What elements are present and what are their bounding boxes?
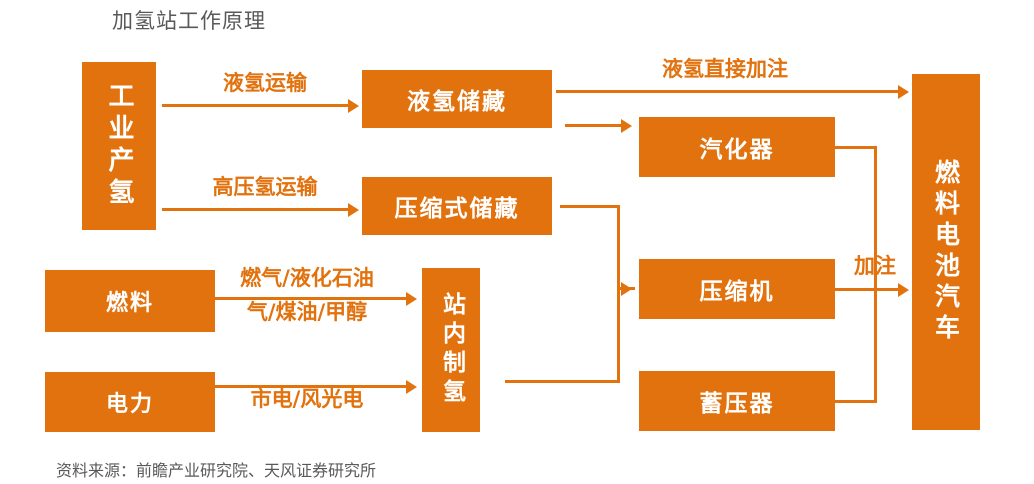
node-accumulator[interactable]: 蓄压器: [639, 371, 835, 431]
edge-label-liquid-hydrogen-transport: 液氢运输: [180, 72, 350, 94]
arrowhead-bus-to-compressor: [621, 282, 632, 296]
connector-right-bus-to-vehicle: [845, 288, 900, 291]
node-fuel-cell-vehicle[interactable]: 燃料电池汽车: [912, 74, 980, 430]
edge-label-fuel-feedstock-line2: 气/煤油/甲醇: [207, 301, 407, 323]
connector-compressed-storage-to-bus: [560, 205, 620, 208]
edge-label-fuel-feedstock-line1: 燃气/液化石油: [207, 267, 407, 289]
connector-liquid-storage-to-vehicle: [556, 90, 900, 93]
connector-left-vertical-bus: [617, 205, 620, 383]
edge-label-power-source: 市电/风光电: [207, 388, 407, 410]
arrowhead-fuel-to-onsite-production: [406, 292, 417, 306]
node-compressed-storage[interactable]: 压缩式储藏: [362, 177, 552, 235]
connector-industrial-to-liquid-storage: [162, 104, 348, 107]
connector-onsite-production-to-bus: [505, 380, 620, 383]
connector-liquid-storage-to-vaporizer: [565, 124, 621, 127]
arrowhead-liquid-storage-to-vaporizer: [621, 119, 632, 133]
edge-label-refueling: 加注: [843, 255, 907, 277]
node-vaporizer[interactable]: 汽化器: [639, 117, 835, 177]
arrowhead-right-bus-to-vehicle: [898, 283, 909, 297]
edge-label-high-pressure-hydrogen-transport: 高压氢运输: [175, 176, 355, 198]
source-note: 资料来源：前瞻产业研究院、天风证券研究所: [56, 457, 376, 481]
diagram-canvas: 加氢站工作原理 工业产氢 液氢储藏 压缩式储藏 燃料 电力 站内制氢 汽化器 压…: [0, 0, 1034, 484]
node-liquid-hydrogen-storage[interactable]: 液氢储藏: [362, 70, 552, 128]
node-electricity[interactable]: 电力: [45, 372, 215, 432]
connector-vaporizer-to-right-bus: [835, 146, 877, 149]
connector-industrial-to-compressed-storage: [162, 208, 348, 211]
arrowhead-liquid-storage-to-vehicle: [898, 85, 909, 99]
arrowhead-industrial-to-liquid-storage: [348, 99, 359, 113]
connector-accumulator-to-right-bus: [835, 400, 877, 403]
node-fuel[interactable]: 燃料: [45, 270, 215, 332]
node-industrial-hydrogen[interactable]: 工业产氢: [82, 62, 156, 230]
page-title: 加氢站工作原理: [112, 5, 266, 35]
node-onsite-hydrogen-production[interactable]: 站内制氢: [422, 268, 480, 432]
node-compressor[interactable]: 压缩机: [639, 259, 835, 319]
arrowhead-electricity-to-onsite-production: [406, 380, 417, 394]
arrowhead-industrial-to-compressed-storage: [348, 203, 359, 217]
edge-label-direct-liquid-hydrogen-filling: 液氢直接加注: [630, 58, 820, 80]
